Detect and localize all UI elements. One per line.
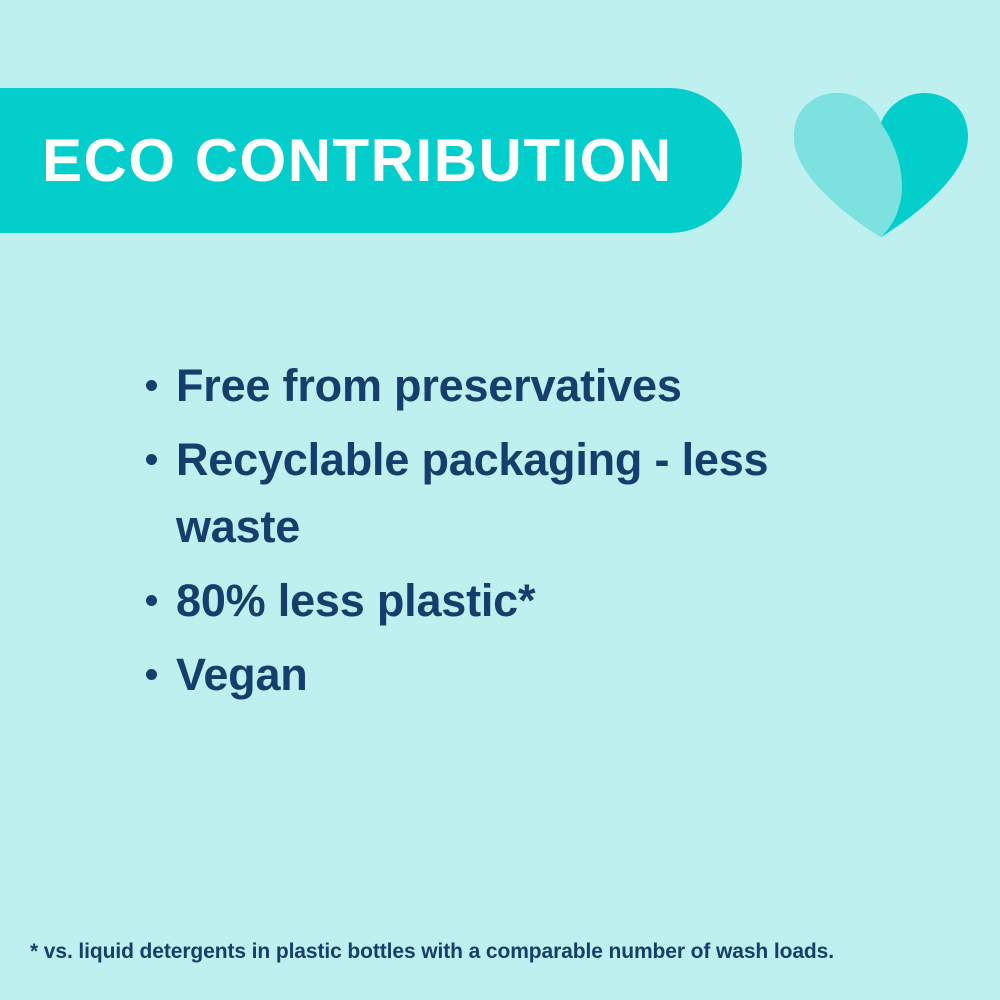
bullet-dot-icon — [146, 380, 157, 391]
title-banner: ECO CONTRIBUTION — [0, 88, 742, 233]
heart-icon — [790, 90, 972, 238]
list-item: Recyclable packaging - less waste — [140, 426, 900, 560]
bullet-dot-icon — [146, 454, 157, 465]
benefits-list: Free from preservatives Recyclable packa… — [140, 352, 900, 715]
page-title: ECO CONTRIBUTION — [42, 131, 673, 191]
bullet-dot-icon — [146, 669, 157, 680]
eco-contribution-panel: ECO CONTRIBUTION Free from preservatives… — [0, 0, 1000, 1000]
list-item: Vegan — [140, 641, 900, 708]
bullet-dot-icon — [146, 595, 157, 606]
list-item-label: Recyclable packaging - less waste — [176, 434, 768, 552]
list-item-label: Vegan — [176, 649, 308, 700]
list-item: Free from preservatives — [140, 352, 900, 419]
header: ECO CONTRIBUTION — [0, 88, 1000, 236]
footnote-text: * vs. liquid detergents in plastic bottl… — [30, 938, 970, 966]
list-item: 80% less plastic* — [140, 567, 900, 634]
list-item-label: 80% less plastic* — [176, 575, 535, 626]
list-item-label: Free from preservatives — [176, 360, 682, 411]
